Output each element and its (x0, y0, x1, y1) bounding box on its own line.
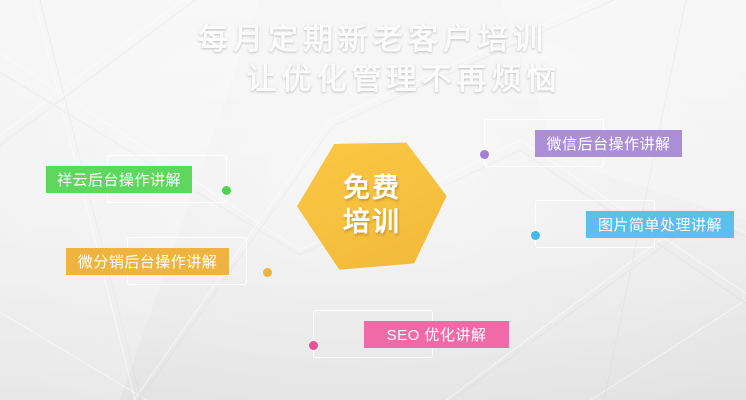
node-label-xiangyun[interactable]: 祥云后台操作讲解 (46, 166, 192, 193)
hexagon-label-line-2: 培训 (343, 205, 401, 239)
node-dot-seo (309, 341, 318, 350)
node-weifenxiao[interactable]: 微分销后台操作讲解 (66, 237, 286, 287)
node-seo[interactable]: SEO 优化讲解 (313, 310, 518, 360)
node-dot-weifenxiao (263, 268, 272, 277)
hexagon-label-line-1: 免费 (343, 171, 401, 205)
node-label-tupian[interactable]: 图片简单处理讲解 (586, 211, 734, 238)
node-label-seo[interactable]: SEO 优化讲解 (364, 321, 509, 348)
center-hexagon[interactable]: 免费 培训 (294, 138, 450, 272)
node-dot-xiangyun (222, 186, 231, 195)
node-label-weifenxiao[interactable]: 微分销后台操作讲解 (66, 248, 229, 275)
headline: 每月定期新老客户培训 让优化管理不再烦恼 (0, 20, 746, 100)
node-tupian[interactable]: 图片简单处理讲解 (535, 200, 745, 250)
node-weixin[interactable]: 微信后台操作讲解 (484, 119, 694, 169)
node-dot-weixin (480, 150, 489, 159)
headline-line-1: 每月定期新老客户培训 (0, 20, 746, 60)
node-label-weixin[interactable]: 微信后台操作讲解 (535, 130, 682, 157)
promo-banner: 每月定期新老客户培训 让优化管理不再烦恼 免费 培训 祥云后台操作讲解 微分销后… (0, 0, 746, 400)
headline-line-2: 让优化管理不再烦恼 (0, 60, 746, 100)
node-xiangyun[interactable]: 祥云后台操作讲解 (46, 155, 246, 205)
hexagon-label: 免费 培训 (297, 142, 447, 268)
node-dot-tupian (531, 231, 540, 240)
